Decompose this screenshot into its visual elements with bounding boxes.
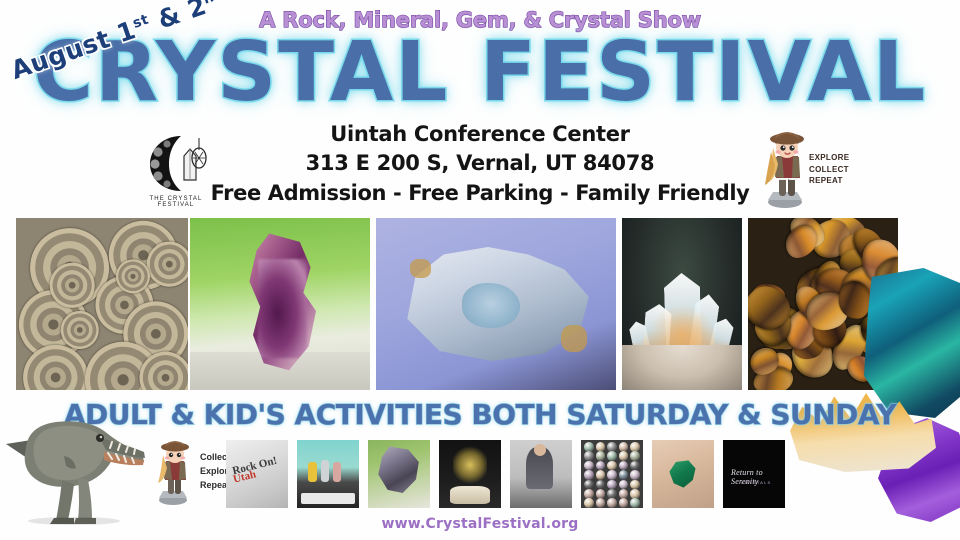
amethyst-geode-photo [190, 218, 370, 390]
thumb-large-geode [368, 440, 430, 508]
mascot-line-explore: EXPLORE [809, 152, 849, 164]
explorer-mascot-tagline: EXPLORE COLLECT REPEAT [809, 152, 849, 187]
thumb-sphere-collection [581, 440, 643, 508]
date-ordinal-second: nd [201, 0, 226, 8]
mascot-line-collect: COLLECT [809, 164, 849, 176]
thumb-vendor-display [510, 440, 572, 508]
footer-website-url: www.CrystalFestival.org [0, 516, 960, 532]
blue-chrysocolla-graphic [864, 268, 960, 418]
clear-quartz-points-photo [622, 218, 742, 390]
thumb-rock-on-utah: Rock On! Utah [226, 440, 288, 508]
explorer-girl-small-icon [150, 493, 200, 510]
thumb-vendor-booth [297, 440, 359, 508]
photo-strip [0, 218, 960, 390]
brand-logo-caption: THE CRYSTAL FESTIVAL [133, 196, 219, 208]
explorer-girl-icon [757, 197, 819, 214]
ammonite-fossil-slab-photo [16, 218, 188, 390]
thumb-green-crystal-pendant [652, 440, 714, 508]
poster-title: CRYSTAL FESTIVAL [0, 32, 960, 114]
mascot-line-repeat: REPEAT [809, 175, 849, 187]
thumb-return-to-serenity-logo: Return to Serenity CRYSTALS [723, 440, 785, 508]
thumbnail-row: Rock On! Utah Return to Serenity CRYSTAL [226, 440, 785, 508]
thumb-citrine-gem-tree [439, 440, 501, 508]
celestite-cluster-photo [376, 218, 616, 390]
t-rex-dinosaur-graphic [4, 408, 154, 526]
serenity-logo-sublabel: CRYSTALS [741, 480, 771, 485]
crescent-moon-crystal-icon [133, 132, 219, 194]
brand-logo: THE CRYSTAL FESTIVAL [133, 132, 219, 208]
explorer-girl-mascot: EXPLORE COLLECT REPEAT [757, 130, 857, 210]
crystal-festival-poster: A Rock, Mineral, Gem, & Crystal Show CRY… [0, 0, 960, 540]
